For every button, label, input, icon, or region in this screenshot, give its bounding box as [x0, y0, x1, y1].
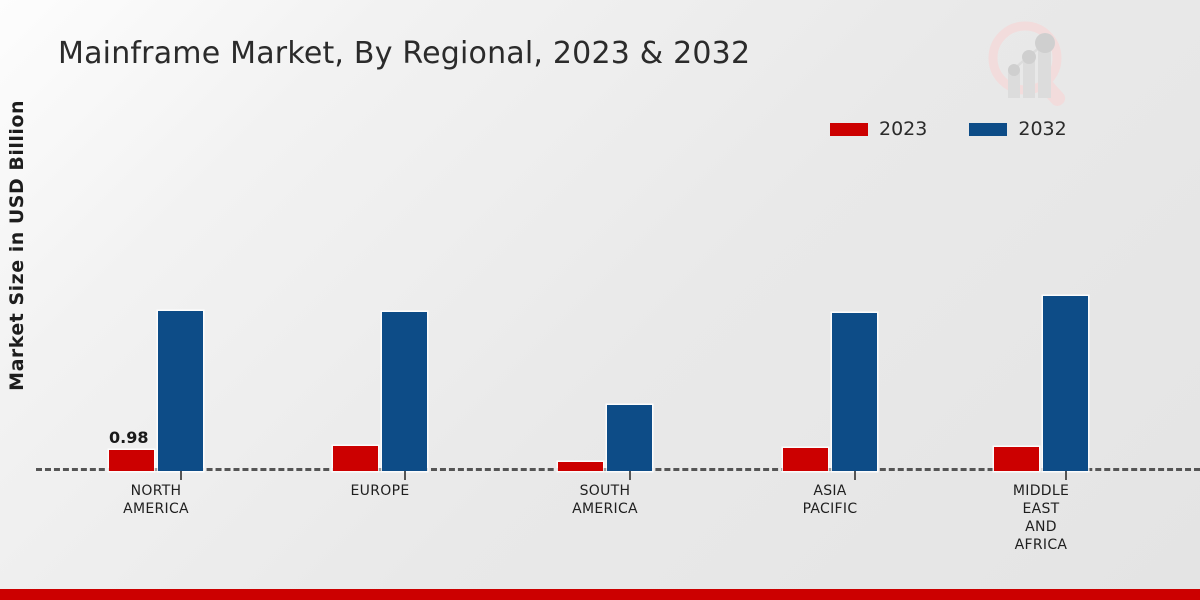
x-axis-label-south-america: SOUTH AMERICA [525, 482, 685, 518]
x-axis-label-middle-east-and-africa: MIDDLE EAST AND AFRICA [961, 482, 1121, 554]
bar-middle-east-and-africa-2023[interactable] [994, 447, 1039, 471]
x-axis-label-asia-pacific: ASIA PACIFIC [750, 482, 910, 518]
axis-tick-north-america [180, 471, 182, 480]
axis-tick-asia-pacific [854, 471, 856, 480]
legend-swatch-2032 [969, 123, 1007, 136]
legend-item-2032[interactable]: 2032 [969, 120, 1066, 139]
y-axis-title-text: Market Size in USD Billion [6, 100, 28, 391]
x-axis-label-line: AMERICA [76, 500, 236, 518]
chart-page: Mainframe Market, By Regional, 2023 & 20… [0, 0, 1200, 600]
bar-group-asia-pacific [783, 160, 877, 471]
plot-area: 0.98 [36, 160, 1200, 471]
x-axis-label-line: AMERICA [525, 500, 685, 518]
x-axis-label-europe: EUROPE [300, 482, 460, 500]
x-axis-label-line: MIDDLE [961, 482, 1121, 500]
x-axis-label-line: AND [961, 518, 1121, 536]
x-axis-label-line: AFRICA [961, 536, 1121, 554]
y-axis-title: Market Size in USD Billion [0, 0, 34, 600]
legend-label-2032: 2032 [1018, 120, 1066, 139]
axis-tick-south-america [629, 471, 631, 480]
x-axis-label-line: EUROPE [300, 482, 460, 500]
bar-asia-pacific-2023[interactable] [783, 448, 828, 471]
bar-value-label-north-america-2023: 0.98 [109, 428, 148, 447]
magnifier-bar-chart-logo [975, 12, 1085, 112]
legend-label-2023: 2023 [879, 120, 927, 139]
x-axis-label-north-america: NORTH AMERICA [76, 482, 236, 518]
axis-tick-europe [404, 471, 406, 480]
bar-group-north-america: 0.98 [109, 160, 203, 471]
bar-south-america-2023[interactable] [558, 462, 603, 471]
x-axis-label-line: PACIFIC [750, 500, 910, 518]
legend-swatch-2023 [830, 123, 868, 136]
bar-europe-2032[interactable] [382, 312, 427, 471]
bar-middle-east-and-africa-2032[interactable] [1043, 296, 1088, 471]
bar-group-europe [333, 160, 427, 471]
bar-south-america-2032[interactable] [607, 405, 652, 471]
page-title: Mainframe Market, By Regional, 2023 & 20… [58, 36, 750, 71]
bar-north-america-2023[interactable]: 0.98 [109, 450, 154, 471]
bar-asia-pacific-2032[interactable] [832, 313, 877, 471]
chart-legend: 2023 2032 [830, 120, 1067, 139]
legend-item-2023[interactable]: 2023 [830, 120, 927, 139]
bar-europe-2023[interactable] [333, 446, 378, 471]
axis-tick-middle-east-and-africa [1065, 471, 1067, 480]
x-axis-label-line: EAST [961, 500, 1121, 518]
bar-group-middle-east-and-africa [994, 160, 1088, 471]
bar-group-south-america [558, 160, 652, 471]
x-axis-label-line: NORTH [76, 482, 236, 500]
bottom-accent-strip [0, 589, 1200, 600]
x-axis-label-line: SOUTH [525, 482, 685, 500]
x-axis-label-line: ASIA [750, 482, 910, 500]
bar-north-america-2032[interactable] [158, 311, 203, 471]
